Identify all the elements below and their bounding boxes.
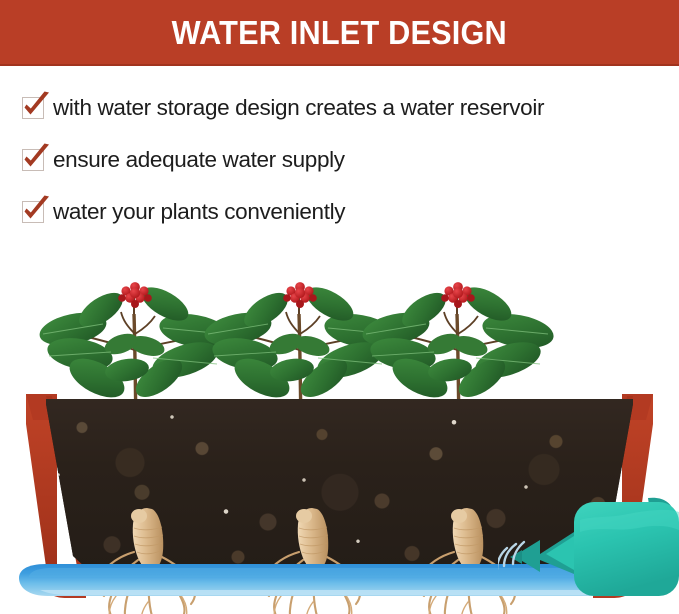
page-title: WATER INLET DESIGN	[172, 16, 507, 49]
checkmark-icon	[22, 149, 44, 171]
list-item-label: with water storage design creates a wate…	[53, 96, 544, 121]
header-banner: WATER INLET DESIGN	[0, 0, 679, 66]
list-item: water your plants conveniently	[22, 186, 672, 238]
watering-can	[498, 470, 679, 610]
product-feature-graphic: WATER INLET DESIGN with water storage de…	[0, 0, 679, 614]
list-item: ensure adequate water supply	[22, 134, 672, 186]
checkmark-icon	[22, 97, 44, 119]
list-item-label: water your plants conveniently	[53, 200, 345, 225]
feature-list: with water storage design creates a wate…	[22, 82, 672, 238]
list-item: with water storage design creates a wate…	[22, 82, 672, 134]
checkmark-icon	[22, 201, 44, 223]
list-item-label: ensure adequate water supply	[53, 148, 345, 173]
